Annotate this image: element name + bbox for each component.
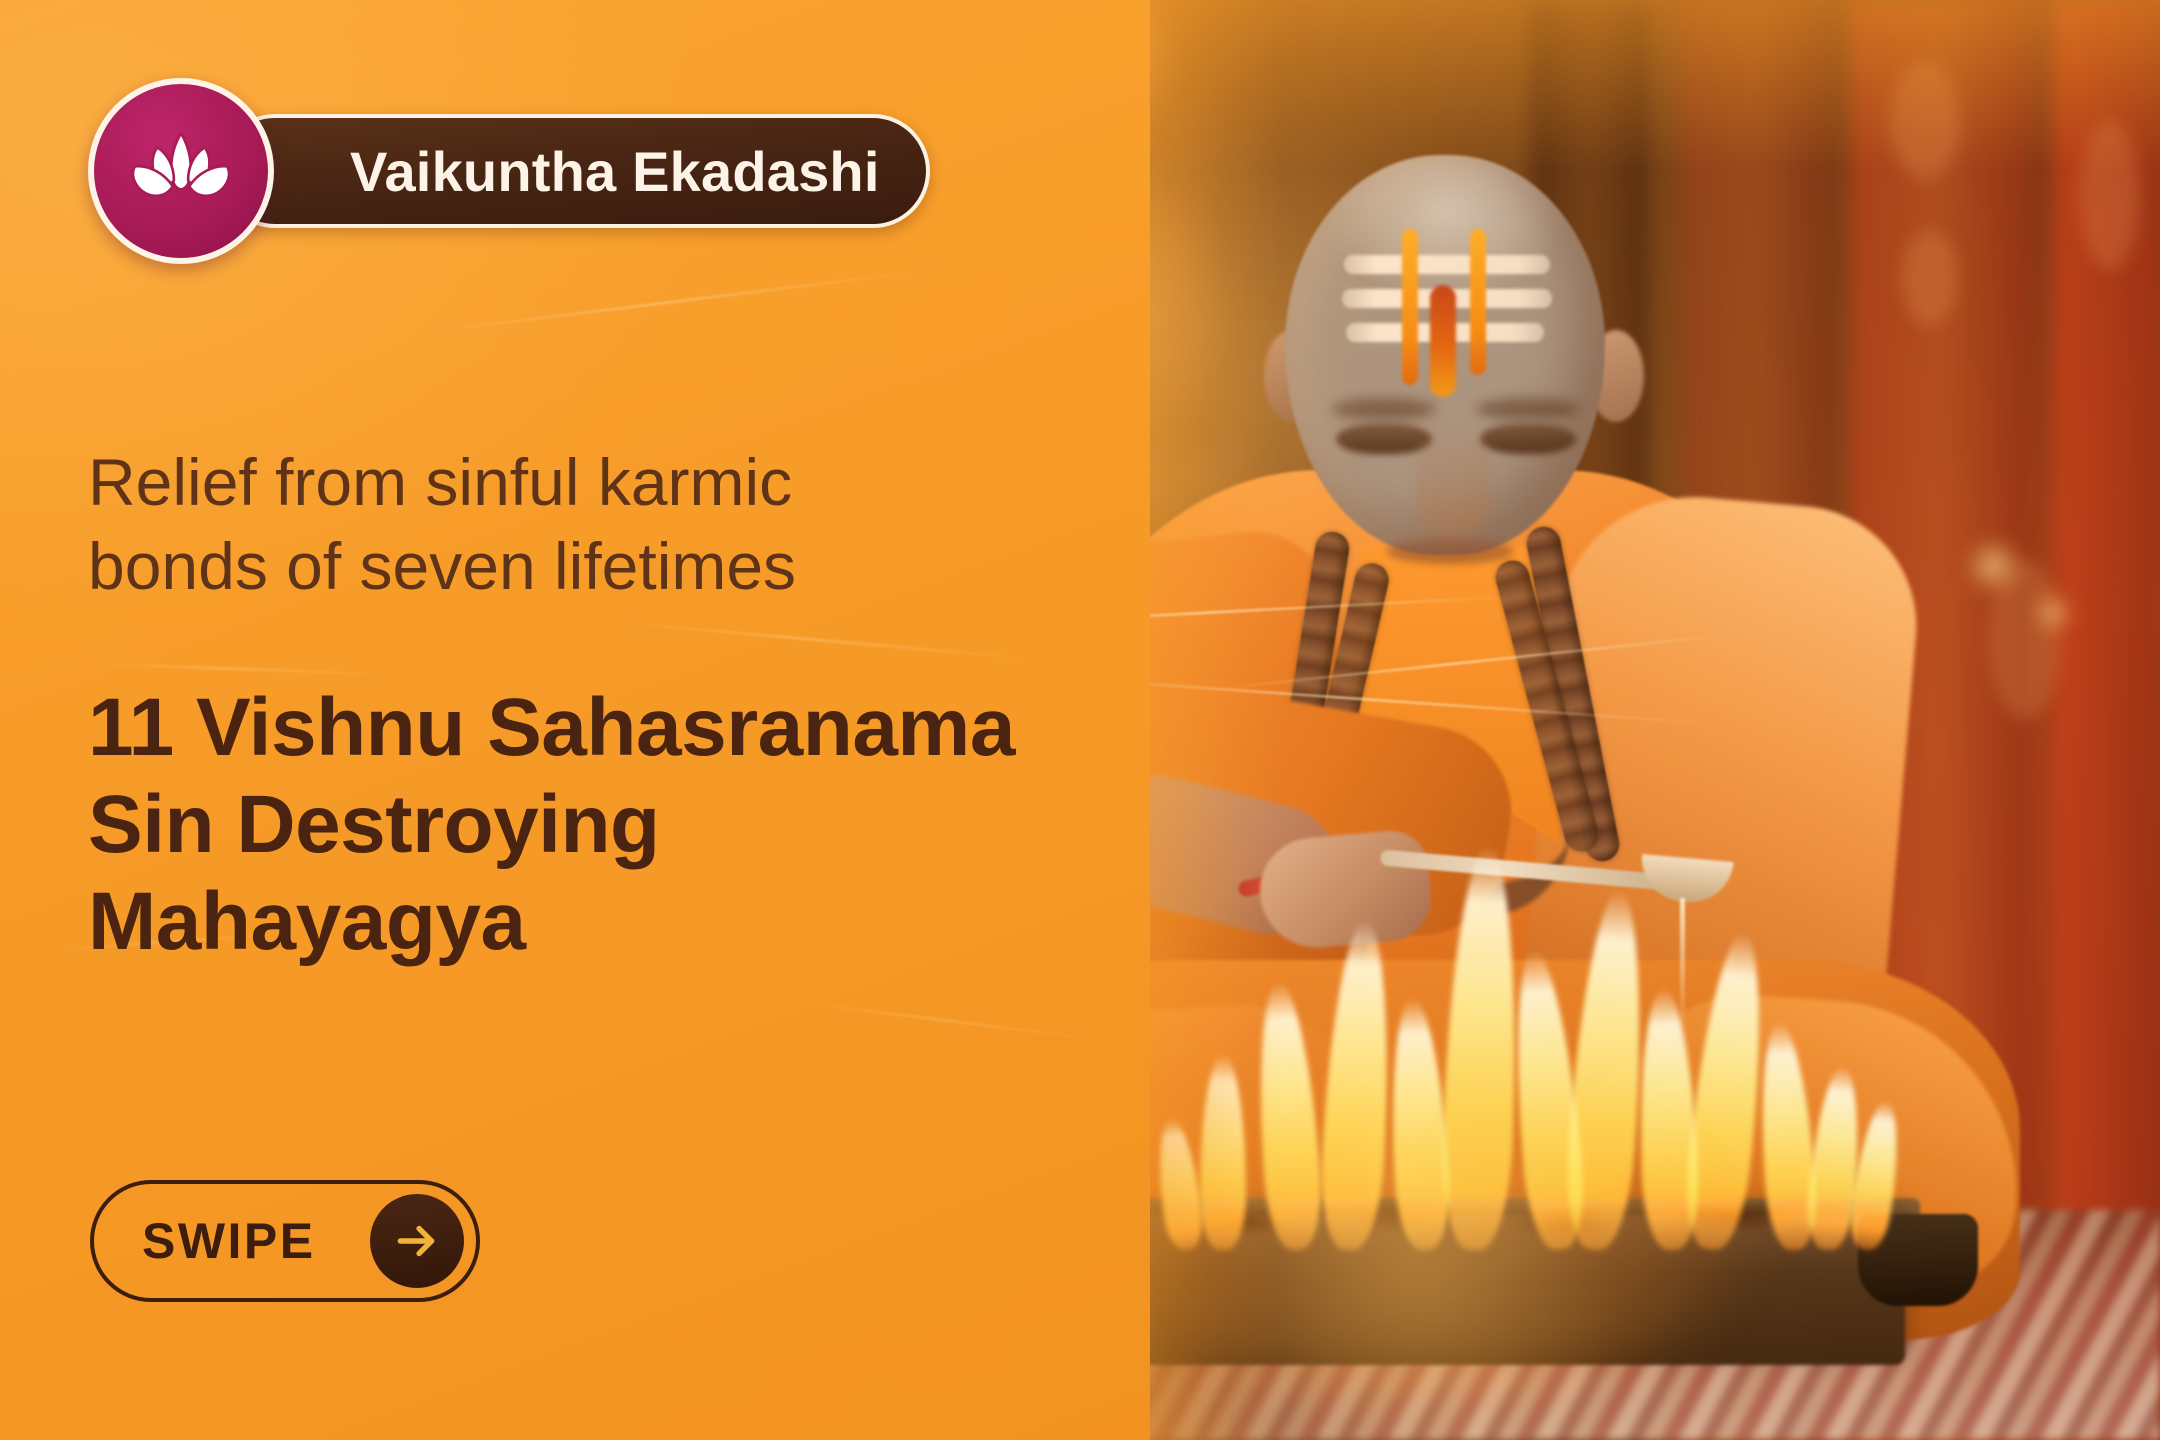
right-eye	[1480, 424, 1576, 454]
nose	[1416, 420, 1490, 538]
subheadline: Relief from sinful karmic bonds of seven…	[88, 440, 1008, 609]
tilak-center-stripe	[1430, 285, 1456, 397]
mouth	[1386, 538, 1514, 564]
social-card: Vaikuntha Ekadashi Relief from sinful ka…	[0, 0, 2160, 1440]
flame	[1251, 980, 1326, 1251]
light-streak	[90, 663, 390, 675]
right-eyebrow	[1476, 398, 1580, 420]
headline-line-3: Mahayagya	[88, 874, 1068, 971]
tilak-stripe	[1470, 229, 1486, 375]
headline-line-1: 11 Vishnu Sahasranama	[88, 680, 1068, 777]
tilak-bar	[1344, 255, 1550, 274]
subheadline-line-2: bonds of seven lifetimes	[88, 524, 1008, 608]
brand-badge[interactable]: Vaikuntha Ekadashi	[88, 96, 274, 246]
arrow-right-icon[interactable]	[370, 1194, 464, 1288]
badge-pill[interactable]: Vaikuntha Ekadashi	[218, 114, 930, 228]
tilak-mark	[1310, 215, 1580, 405]
swipe-label: SWIPE	[142, 1212, 316, 1270]
tilak-stripe	[1402, 229, 1418, 385]
lotus-icon	[88, 78, 274, 264]
headline-line-2: Sin Destroying	[88, 777, 1068, 874]
flame	[1562, 888, 1653, 1252]
flame	[1317, 919, 1396, 1252]
subheadline-line-1: Relief from sinful karmic	[88, 440, 1008, 524]
flame	[1152, 1116, 1206, 1252]
flame	[1200, 1054, 1246, 1250]
flame	[1680, 930, 1775, 1253]
badge-label: Vaikuntha Ekadashi	[350, 139, 880, 204]
swipe-button[interactable]: SWIPE	[90, 1180, 480, 1302]
flame	[1439, 845, 1523, 1251]
page-title: 11 Vishnu Sahasranama Sin Destroying Mah…	[88, 680, 1068, 970]
sacred-fire	[1140, 830, 1920, 1250]
left-eyebrow	[1332, 398, 1436, 420]
